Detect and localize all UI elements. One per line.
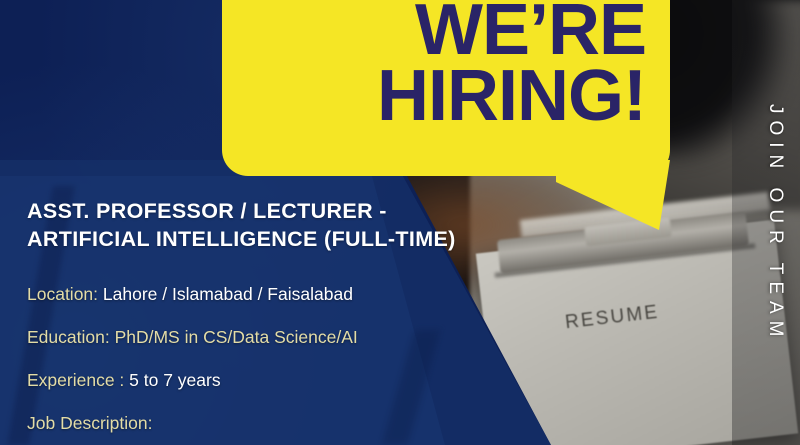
- field-location-label: Location:: [27, 284, 98, 304]
- field-experience: Experience : 5 to 7 years: [27, 370, 527, 391]
- job-title-line-1: ASST. PROFESSOR / LECTURER -: [27, 199, 387, 223]
- field-location: Location: Lahore / Islamabad / Faisalaba…: [27, 284, 527, 305]
- join-our-team-tagline: JOIN OUR TEAM: [764, 14, 786, 434]
- job-title: ASST. PROFESSOR / LECTURER - ARTIFICIAL …: [27, 197, 527, 254]
- field-experience-value: 5 to 7 years: [129, 370, 220, 390]
- field-job-description: Job Description:: [27, 413, 527, 434]
- job-title-line-2: ARTIFICIAL INTELLIGENCE (FULL-TIME): [27, 225, 527, 253]
- field-education-value: PhD/MS in CS/Data Science/AI: [115, 327, 358, 347]
- banner-line-2: HIRING!: [377, 63, 646, 129]
- banner-line-1: WE’RE: [415, 0, 646, 63]
- join-our-team-text: JOIN OUR TEAM: [764, 104, 786, 344]
- field-education-label: Education:: [27, 327, 110, 347]
- job-posting-poster: RESUME WE’RE HIRING! ASST. PROFESSOR / L…: [0, 0, 800, 445]
- field-job-description-label: Job Description:: [27, 413, 152, 433]
- field-education: Education: PhD/MS in CS/Data Science/AI: [27, 327, 527, 348]
- job-details: ASST. PROFESSOR / LECTURER - ARTIFICIAL …: [27, 197, 527, 434]
- field-experience-label: Experience :: [27, 370, 124, 390]
- field-location-value: Lahore / Islamabad / Faisalabad: [103, 284, 353, 304]
- hiring-banner-text: WE’RE HIRING!: [222, 0, 656, 178]
